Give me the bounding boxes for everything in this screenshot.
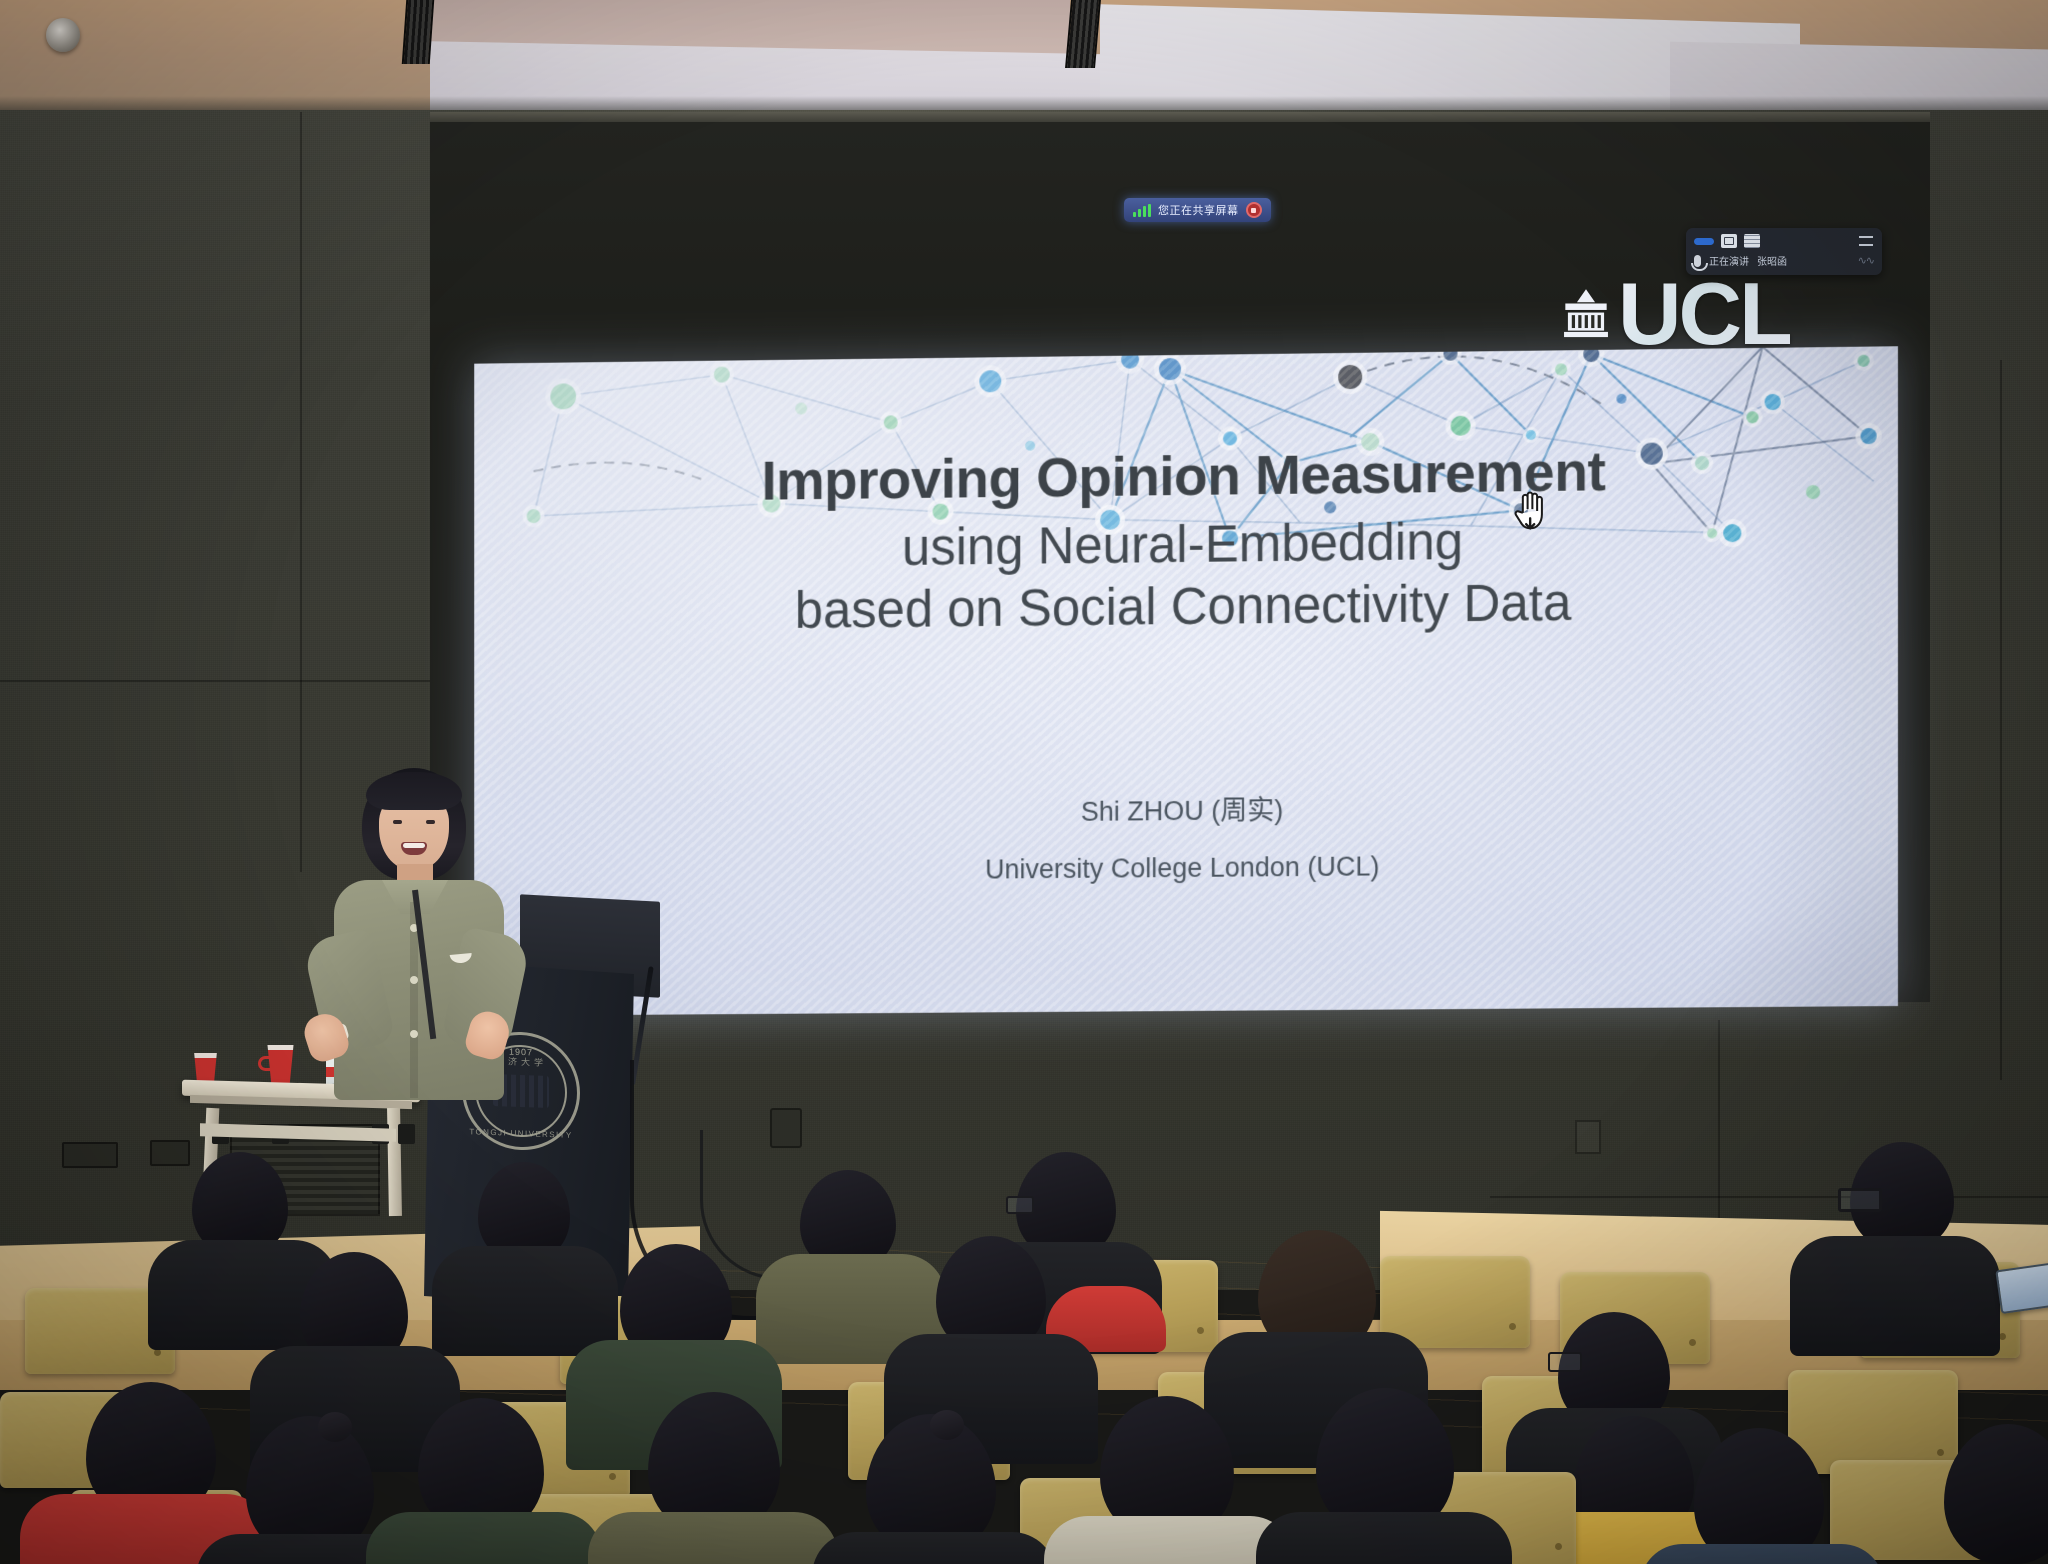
audience-body (1790, 1236, 2000, 1356)
share-status-label: 您正在共享屏幕 (1158, 202, 1239, 218)
hand-pan-cursor-icon[interactable] (1510, 486, 1554, 536)
auditorium-seat (1380, 1256, 1530, 1348)
gallery-view-icon[interactable] (1721, 234, 1737, 248)
view-toggle-icon[interactable] (1694, 238, 1714, 245)
audience-body (432, 1246, 618, 1356)
wall-seam (2000, 360, 2002, 1080)
portico-building-icon (1560, 288, 1612, 350)
audience-body (366, 1512, 602, 1564)
wall-seam (300, 112, 302, 872)
presenter-fringe (366, 772, 462, 810)
microphone-icon[interactable] (1694, 255, 1701, 267)
slide-subtitle-line2: based on Social Connectivity Data (474, 569, 1898, 643)
presenter-mouth (401, 842, 427, 855)
presenter-button (410, 976, 418, 984)
audio-wave-icon: ∿∿ (1858, 254, 1874, 267)
lecture-hall-photo: Improving Opinion Measurement using Neur… (0, 0, 2048, 1564)
signal-bars-icon (1133, 204, 1151, 217)
audience-body (812, 1532, 1056, 1564)
meeting-presenter-label: 张昭函 (1757, 253, 1787, 268)
slide-subtitle: using Neural-Embedding based on Social C… (474, 505, 1898, 643)
hair-bun (930, 1410, 964, 1440)
ucl-wordmark: UCL (1618, 278, 1790, 350)
ceiling-speaker-icon (46, 18, 80, 52)
participants-list-icon[interactable] (1744, 234, 1760, 248)
side-table-clamp (398, 1124, 415, 1144)
presenter-eye-right (426, 820, 435, 824)
hair-bun (318, 1412, 352, 1442)
auditorium-seat (1788, 1370, 1958, 1474)
meeting-status-label: 正在演讲 (1709, 253, 1749, 268)
meeting-toolbar-bottom-row: 正在演讲 张昭函 ∿∿ (1694, 253, 1874, 268)
audience-body (1256, 1512, 1512, 1564)
audience (0, 1160, 2048, 1564)
ucl-logo: UCL (1560, 278, 1790, 350)
eyeglasses-icon (1548, 1352, 1582, 1372)
tablet-device (1995, 1262, 2048, 1314)
slide-affiliation: University College London (UCL) (474, 847, 1898, 890)
projection-screen: Improving Opinion Measurement using Neur… (474, 346, 1898, 1016)
screen-share-indicator[interactable]: 您正在共享屏幕 (1124, 198, 1271, 222)
audience-head (1944, 1424, 2048, 1564)
expand-icon[interactable] (1858, 234, 1874, 248)
presenter-eye-left (393, 820, 402, 824)
audience-body (1640, 1544, 1884, 1564)
meeting-toolbar-top-row (1694, 234, 1874, 248)
audience-body (588, 1512, 838, 1564)
cup-handle (258, 1056, 270, 1071)
stop-share-icon[interactable] (1246, 202, 1262, 218)
wall-access-plate (1575, 1120, 1601, 1154)
meeting-toolbar[interactable]: 正在演讲 张昭函 ∿∿ (1686, 228, 1882, 275)
eyeglasses-icon (1006, 1196, 1034, 1214)
wall-seam (0, 680, 440, 682)
slide-author: Shi ZHOU (周实) (474, 783, 1898, 834)
presenter-button (410, 1030, 418, 1038)
ceiling-vent-icon (402, 0, 434, 64)
eyeglasses-icon (1838, 1188, 1882, 1212)
presenter (300, 768, 530, 1098)
ceiling-vent-icon (1065, 0, 1101, 68)
